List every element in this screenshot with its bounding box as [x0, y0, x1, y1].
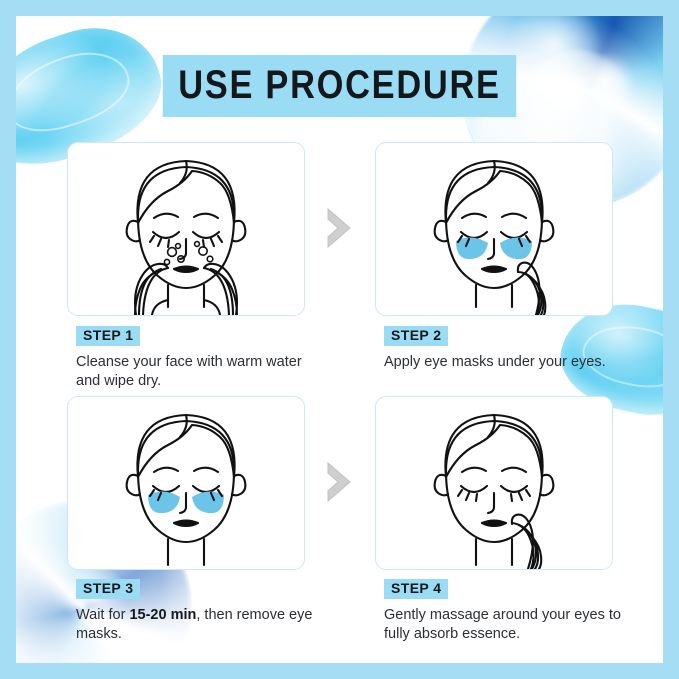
step-arrow-1 — [316, 200, 362, 256]
step-1-text: Cleanse your face with warm water and wi… — [76, 353, 326, 392]
step-4-illustration-panel — [375, 396, 613, 570]
step-4-tag: STEP 4 — [384, 579, 448, 599]
eye-patch-left-icon — [148, 491, 180, 513]
step-2-text-before: Apply eye masks under your eyes. — [384, 354, 606, 370]
poster-card: USE PROCEDURE — [16, 16, 663, 663]
step-3-caption: STEP 3 Wait for 15-20 min, then remove e… — [76, 579, 346, 645]
eye-patch-right-icon — [192, 491, 224, 513]
step-3-text-before: Wait for — [76, 607, 129, 623]
step-2-tag: STEP 2 — [384, 326, 448, 346]
step-4-caption: STEP 4 Gently massage around your eyes t… — [384, 579, 654, 645]
step-1-illustration-panel — [67, 142, 305, 316]
step-3-text: Wait for 15-20 min, then remove eye mask… — [76, 606, 326, 645]
face-massage-illustration — [376, 397, 612, 569]
poster-root: USE PROCEDURE — [0, 0, 679, 679]
step-2-caption: STEP 2 Apply eye masks under your eyes. — [384, 326, 654, 372]
face-washing-illustration — [68, 143, 304, 315]
step-2-text: Apply eye masks under your eyes. — [384, 353, 634, 373]
step-4-text-before: Gently massage around your eyes to fully… — [384, 607, 621, 643]
steps-grid: STEP 1 Cleanse your face with warm water… — [16, 16, 663, 663]
step-2-illustration-panel — [375, 142, 613, 316]
step-1-text-before: Cleanse your face with warm water and wi… — [76, 354, 302, 390]
step-3-illustration-panel — [67, 396, 305, 570]
step-4-text: Gently massage around your eyes to fully… — [384, 606, 634, 645]
eye-patch-left-icon — [456, 237, 488, 259]
step-1-caption: STEP 1 Cleanse your face with warm water… — [76, 326, 346, 392]
chevron-right-icon — [322, 460, 356, 504]
soap-bubbles-icon — [164, 242, 212, 265]
face-resting-with-patches-illustration — [68, 397, 304, 569]
step-3-tag: STEP 3 — [76, 579, 140, 599]
step-3-text-bold: 15-20 min — [129, 607, 196, 623]
step-1-tag: STEP 1 — [76, 326, 140, 346]
face-apply-patches-illustration — [376, 143, 612, 315]
step-arrow-2 — [316, 454, 362, 510]
chevron-right-icon — [322, 206, 356, 250]
eye-patch-right-icon — [500, 237, 532, 259]
